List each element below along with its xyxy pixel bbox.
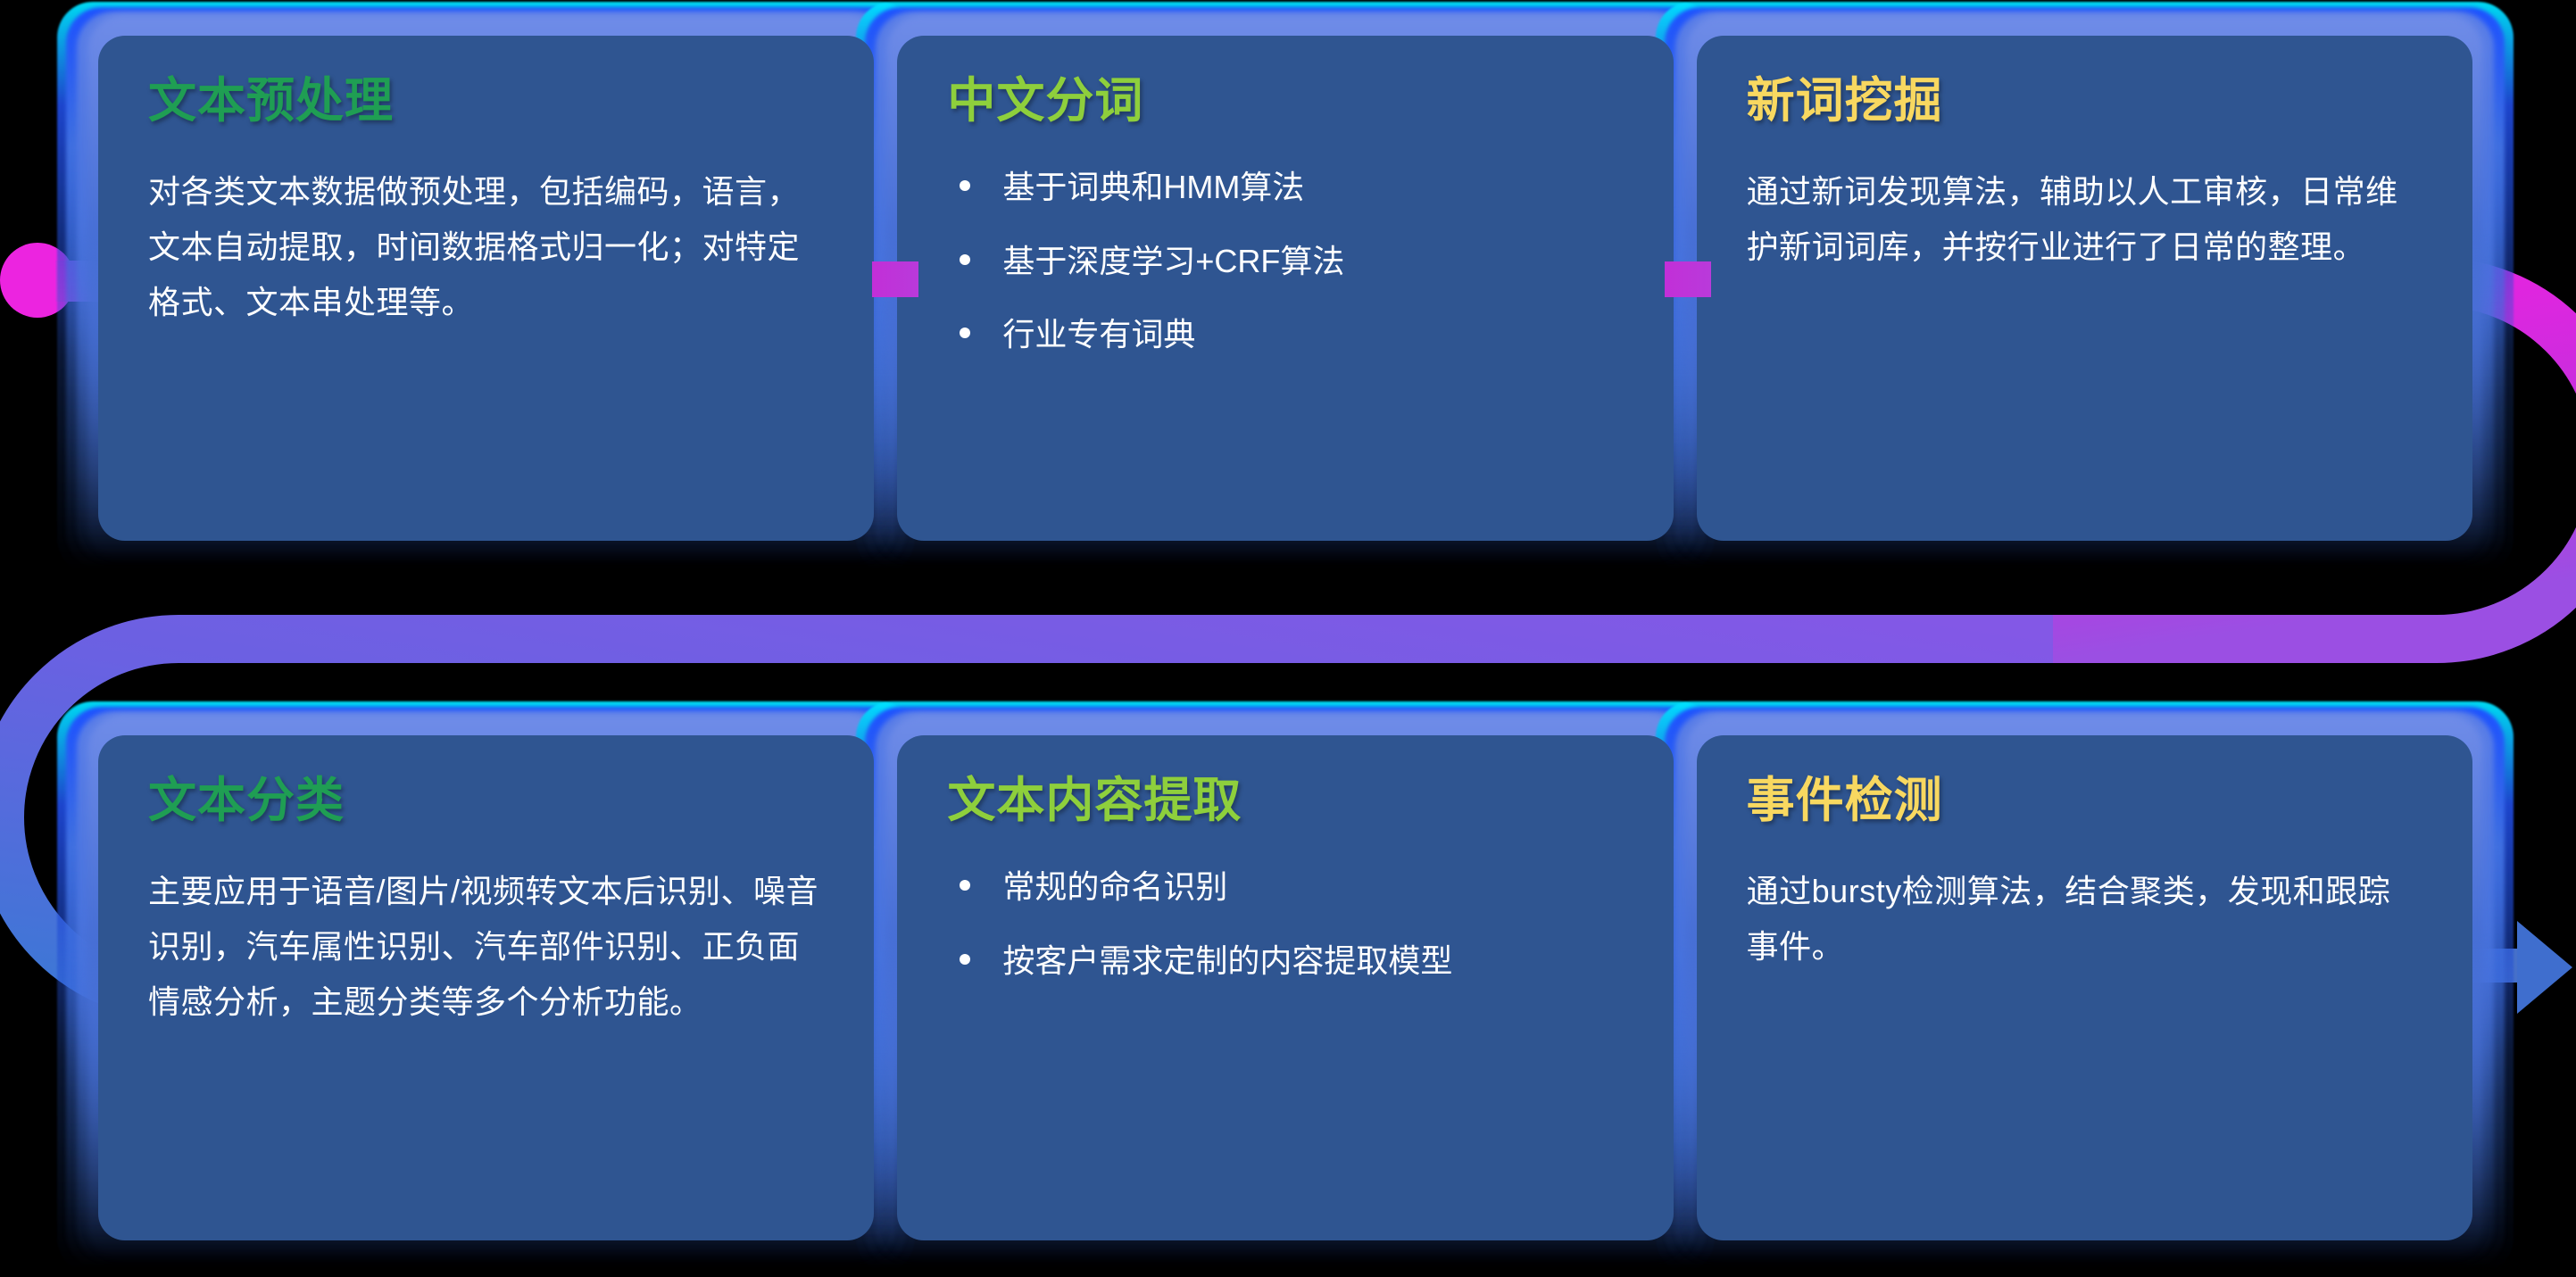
card-surface: 文本分类 主要应用于语音/图片/视频转文本后识别、噪音识别，汽车属性识别、汽车部…: [98, 735, 874, 1240]
card-content-extraction[interactable]: 文本内容提取 常规的命名识别 按客户需求定制的内容提取模型: [897, 716, 1673, 1260]
card-text-preprocessing[interactable]: 文本预处理 对各类文本数据做预处理，包括编码，语言，文本自动提取，时间数据格式归…: [98, 16, 874, 560]
card-paragraph: 通过新词发现算法，辅助以人工审核，日常维护新词词库，并按行业进行了日常的整理。: [1747, 164, 2422, 275]
card-surface: 新词挖掘 通过新词发现算法，辅助以人工审核，日常维护新词词库，并按行业进行了日常…: [1697, 36, 2472, 541]
card-chinese-segmentation[interactable]: 中文分词 基于词典和HMM算法 基于深度学习+CRF算法 行业专有词典: [897, 16, 1673, 560]
card-new-word-discovery[interactable]: 新词挖掘 通过新词发现算法，辅助以人工审核，日常维护新词词库，并按行业进行了日常…: [1697, 16, 2472, 560]
card-surface: 中文分词 基于词典和HMM算法 基于深度学习+CRF算法 行业专有词典: [897, 36, 1673, 541]
card-bullet-list: 基于词典和HMM算法 基于深度学习+CRF算法 行业专有词典: [947, 164, 1623, 358]
card-title: 文本内容提取: [947, 775, 1623, 826]
card-event-detection[interactable]: 事件检测 通过bursty检测算法，结合聚类，发现和跟踪事件。: [1697, 716, 2472, 1260]
list-item: 按客户需求定制的内容提取模型: [947, 938, 1623, 984]
card-title: 文本预处理: [148, 75, 824, 127]
flow-end-arrow-head: [2517, 921, 2572, 1014]
card-row-top: 文本预处理 对各类文本数据做预处理，包括编码，语言，文本自动提取，时间数据格式归…: [98, 16, 2472, 560]
card-surface: 事件检测 通过bursty检测算法，结合聚类，发现和跟踪事件。: [1697, 735, 2472, 1240]
card-text-classification[interactable]: 文本分类 主要应用于语音/图片/视频转文本后识别、噪音识别，汽车属性识别、汽车部…: [98, 716, 874, 1260]
connector-card1-card2: [872, 261, 918, 297]
card-row-bottom: 文本分类 主要应用于语音/图片/视频转文本后识别、噪音识别，汽车属性识别、汽车部…: [98, 716, 2472, 1260]
card-surface: 文本预处理 对各类文本数据做预处理，包括编码，语言，文本自动提取，时间数据格式归…: [98, 36, 874, 541]
card-surface: 文本内容提取 常规的命名识别 按客户需求定制的内容提取模型: [897, 735, 1673, 1240]
diagram-canvas: 文本预处理 对各类文本数据做预处理，包括编码，语言，文本自动提取，时间数据格式归…: [0, 0, 2576, 1277]
list-item: 基于深度学习+CRF算法: [947, 238, 1623, 285]
card-paragraph: 对各类文本数据做预处理，包括编码，语言，文本自动提取，时间数据格式归一化；对特定…: [148, 164, 824, 330]
list-item: 行业专有词典: [947, 311, 1623, 358]
card-title: 事件检测: [1747, 775, 2422, 826]
card-paragraph: 主要应用于语音/图片/视频转文本后识别、噪音识别，汽车属性识别、汽车部件识别、正…: [148, 864, 824, 1030]
card-title: 新词挖掘: [1747, 75, 2422, 127]
connector-card2-card3: [1665, 261, 1711, 297]
card-paragraph: 通过bursty检测算法，结合聚类，发现和跟踪事件。: [1747, 864, 2422, 974]
card-bullet-list: 常规的命名识别 按客户需求定制的内容提取模型: [947, 864, 1623, 983]
list-item: 常规的命名识别: [947, 864, 1623, 910]
card-title: 文本分类: [148, 775, 824, 826]
list-item: 基于词典和HMM算法: [947, 164, 1623, 211]
card-title: 中文分词: [947, 75, 1623, 127]
